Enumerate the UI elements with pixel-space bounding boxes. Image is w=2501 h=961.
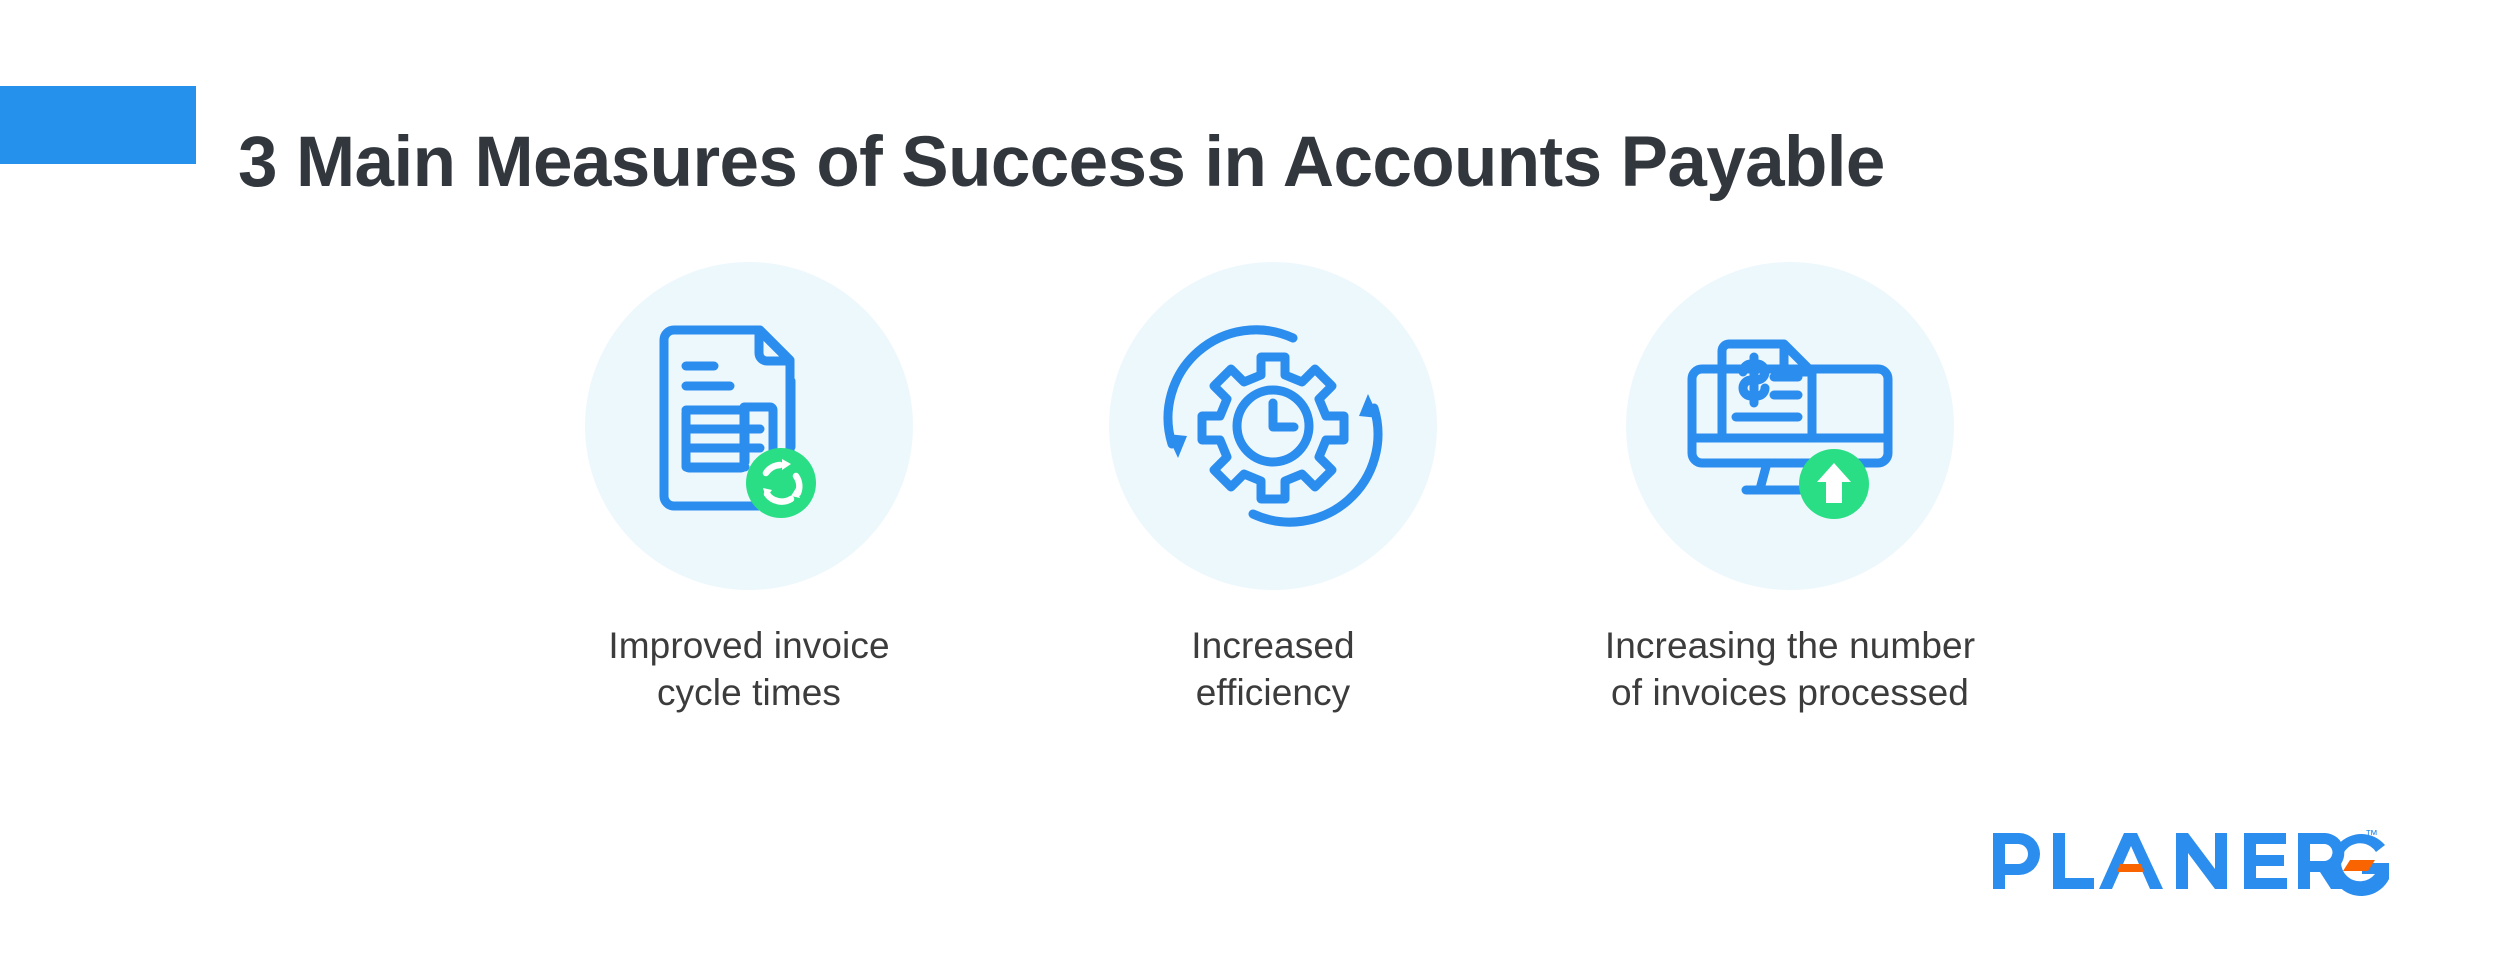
recycle-arrows-badge-icon (746, 448, 816, 518)
measure-caption-1: Improved invoice cycle times (469, 622, 1029, 716)
page-header: 3 Main Measures of Success in Accounts P… (0, 0, 2501, 200)
icon-circle-2 (1109, 262, 1437, 590)
trademark-symbol: ™ (2365, 827, 2393, 855)
monitor-invoice-icon (1626, 262, 1954, 590)
gear-clock-cycle-icon (1109, 262, 1437, 590)
measures-row: Improved invoice cycle times (0, 250, 2501, 720)
measure-card-increasing-invoices-processed: Increasing the number of invoices proces… (1510, 250, 2070, 720)
svg-text:™: ™ (2365, 827, 2378, 842)
measure-caption-3: Increasing the number of invoices proces… (1510, 622, 2070, 716)
measure-card-increased-efficiency: Increased efficiency (993, 250, 1553, 720)
measure-card-improved-invoice-cycle-times: Improved invoice cycle times (469, 250, 1029, 720)
measure-caption-2: Increased efficiency (993, 622, 1553, 716)
invoice-document-refresh-icon (585, 262, 913, 590)
icon-circle-3 (1626, 262, 1954, 590)
planergy-logo[interactable]: ™ (1993, 827, 2393, 897)
up-arrow-badge-icon (1799, 449, 1869, 519)
title-accent-bar (0, 86, 196, 164)
planergy-logo-mark (1993, 827, 2393, 897)
logo-accent-a (2117, 864, 2144, 872)
page-title: 3 Main Measures of Success in Accounts P… (238, 120, 1885, 206)
icon-circle-1 (585, 262, 913, 590)
